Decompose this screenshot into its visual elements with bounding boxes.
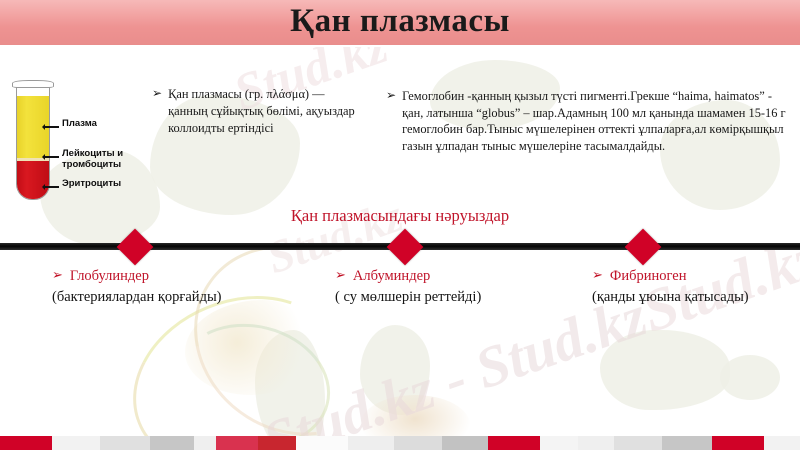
footer-strip-cell-12	[540, 436, 578, 450]
arrow-bullet-icon: ➢	[386, 88, 396, 103]
diamond-node-fibrinogen	[625, 229, 662, 266]
title-banner: Қан плазмасы	[0, 0, 800, 47]
map-shape	[600, 330, 730, 410]
arrow-bullet-icon: ➢	[152, 86, 162, 101]
footer-strip-cell-0	[0, 436, 52, 450]
protein-description: (бактериялардан қорғайды)	[52, 287, 267, 308]
map-shape	[720, 355, 780, 400]
definition-text-left: Қан плазмасы (гр. πλάσμα) — қанның сұйық…	[168, 86, 362, 137]
test-tube-rim	[12, 80, 54, 88]
footer-strip-cell-13	[578, 436, 614, 450]
protein-name: Фибриноген	[610, 266, 687, 287]
footer-strip-cell-10	[442, 436, 488, 450]
label-leukocytes: Лейкоциты и тромбоциты	[62, 148, 123, 170]
label-plasma: Плазма	[62, 118, 97, 129]
footer-strip-cell-9	[394, 436, 442, 450]
footer-strip-cell-8	[348, 436, 394, 450]
protein-column-albumins: ➢ Албуминдер ( су мөлшерін реттейді)	[335, 266, 550, 308]
swirl-ornament	[163, 308, 344, 450]
footer-strip-cell-6	[258, 436, 296, 450]
protein-name: Албуминдер	[353, 266, 430, 287]
test-tube-illustration	[12, 80, 56, 202]
map-shape	[255, 330, 325, 450]
footer-strip-cell-2	[100, 436, 150, 450]
definition-text-right: Гемоглобин -қанның қызыл түсті пигменті.…	[402, 88, 786, 154]
page-title: Қан плазмасы	[290, 5, 510, 40]
diamond-node-globulins	[117, 229, 154, 266]
footer-strip-cell-3	[150, 436, 194, 450]
footer-strip-cell-5	[216, 436, 258, 450]
protein-column-globulins: ➢ Глобулиндер (бактериялардан қорғайды)	[52, 266, 267, 308]
protein-name: Глобулиндер	[70, 266, 149, 287]
diamond-node-albumins	[387, 229, 424, 266]
protein-description: (қанды ұюына қатысады)	[592, 287, 792, 308]
footer-color-strip	[0, 436, 800, 450]
leader-line-erythrocytes	[44, 186, 59, 188]
footer-strip-cell-15	[662, 436, 712, 450]
footer-strip-cell-1	[52, 436, 100, 450]
label-erythrocytes: Эритроциты	[62, 178, 121, 189]
footer-strip-cell-7	[296, 436, 348, 450]
arrow-bullet-icon: ➢	[592, 266, 603, 285]
arrow-bullet-icon: ➢	[335, 266, 346, 285]
floral-ornament	[185, 300, 315, 395]
definition-bullet-right: ➢ Гемоглобин -қанның қызыл түсті пигмент…	[386, 88, 786, 154]
protein-column-fibrinogen: ➢ Фибриноген (қанды ұюына қатысады)	[592, 266, 792, 308]
footer-strip-cell-4	[194, 436, 216, 450]
arrow-bullet-icon: ➢	[52, 266, 63, 285]
footer-strip-cell-14	[614, 436, 662, 450]
footer-strip-cell-11	[488, 436, 540, 450]
erythrocyte-layer	[17, 161, 49, 199]
footer-strip-cell-17	[764, 436, 800, 450]
footer-strip-cell-16	[712, 436, 764, 450]
section-heading: Қан плазмасындағы нәруыздар	[0, 206, 800, 226]
definition-bullet-left: ➢ Қан плазмасы (гр. πλάσμα) — қанның сұй…	[152, 86, 362, 137]
map-shape	[360, 325, 430, 415]
test-tube-body	[16, 85, 50, 200]
protein-description: ( су мөлшерін реттейді)	[335, 287, 550, 308]
slide-canvas: Stud.kz Stud.kz Stud.kz Stud.kz - Stud.k…	[0, 0, 800, 450]
leader-line-leukocytes	[44, 156, 59, 158]
leader-line-plasma	[44, 126, 59, 128]
